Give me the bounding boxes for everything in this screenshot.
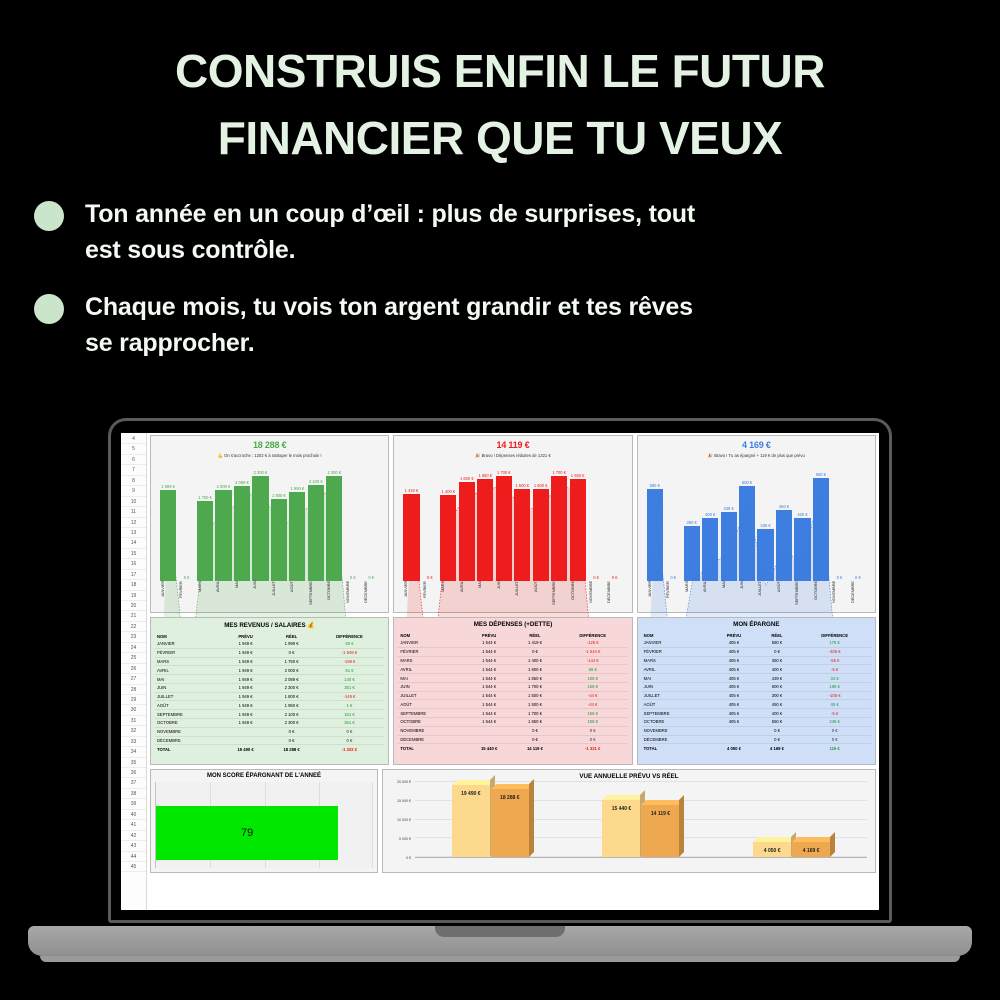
chart-area-epargne: 580 €0 €350 €400 €439 €600 €330 €450 €40… [643, 467, 870, 607]
table-cell[interactable]: 405 € [712, 674, 756, 683]
table-row[interactable]: MARS405 €350 €-55 € [642, 656, 871, 665]
column-header[interactable]: DIFFÉRENCE [558, 631, 628, 639]
chart-panel-revenus[interactable]: 18 288 €💪 On s'accroche : 1202 € à rattr… [150, 435, 389, 613]
column-header[interactable]: DIFFÉRENCE [798, 631, 871, 639]
table-cell[interactable]: 0 € [512, 647, 558, 656]
row-header[interactable]: 30 [121, 705, 146, 715]
table-total-cell: -1 321 € [558, 744, 628, 752]
bar-value-label: 18 288 € [491, 795, 529, 801]
table-cell[interactable]: 1 949 € [223, 640, 269, 648]
chart-panel-epargne[interactable]: 4 169 €🎉 Bravo ! Tu as épargné + 119 € d… [637, 435, 876, 613]
table-cell[interactable]: JUILLET [398, 691, 466, 700]
table-cell[interactable]: 0 € [512, 726, 558, 735]
table-row[interactable]: OCTOBRE1 544 €1 650 €106 € [398, 718, 627, 727]
table-cell[interactable]: 405 € [712, 647, 756, 656]
table-cell[interactable]: FÉVRIER [642, 647, 713, 656]
table-cell[interactable]: 1 949 € [223, 666, 269, 675]
table-total-row: TOTAL15 440 €14 119 €-1 321 € [398, 744, 627, 752]
table-cell[interactable]: JANVIER [155, 640, 223, 648]
score-title: MON SCORE ÉPARGNANT DE L'ANNEÉ [155, 773, 373, 779]
row-header[interactable]: 41 [121, 820, 146, 830]
column-header[interactable]: PRÉVU [466, 631, 512, 639]
x-axis-label: OCTOBRE [813, 581, 829, 607]
row-header[interactable]: 23 [121, 632, 146, 642]
table-cell[interactable]: -149 € [315, 692, 385, 701]
x-axis-label: SEPTEMBRE [794, 581, 810, 607]
bar-réel: 18 288 € [491, 789, 529, 857]
chart-area-revenus: 1 999 €0 €1 750 €2 000 €2 089 €2 300 €1 … [156, 467, 383, 607]
bar-réel: 14 119 € [641, 805, 679, 857]
spreadsheet-row-gutter[interactable]: 4567891011121314151617181920212223242526… [121, 433, 147, 910]
table-cell[interactable]: 405 € [712, 691, 756, 700]
table-cell[interactable]: SEPTEMBRE [642, 709, 713, 718]
headline-line-1: CONSTRUIS ENFIN LE FUTUR [175, 45, 825, 97]
table-row[interactable]: JANVIER405 €580 €175 € [642, 639, 871, 647]
row-header[interactable]: 25 [121, 653, 146, 663]
table-row[interactable]: AVRIL1 949 €2 000 €51 € [155, 666, 384, 675]
row-header[interactable]: 21 [121, 611, 146, 621]
table-cell[interactable]: AVRIL [155, 666, 223, 675]
column-header[interactable]: NOM [642, 631, 713, 639]
table-cell[interactable]: -144 € [558, 656, 628, 665]
table-cell[interactable]: 245 € [798, 718, 871, 727]
table-cell[interactable]: 1 500 € [512, 691, 558, 700]
table-cell[interactable]: 1 999 € [269, 640, 315, 648]
table-panel-revenus[interactable]: MES REVENUS / SALAIRES 💰NOMPRÉVURÉELDIFF… [150, 617, 389, 765]
column-header[interactable]: RÉEL [269, 632, 315, 640]
row-header[interactable]: 7 [121, 465, 146, 475]
table-cell[interactable]: -405 € [798, 647, 871, 656]
row-header[interactable]: 31 [121, 716, 146, 726]
table-cell[interactable]: 2 089 € [269, 675, 315, 684]
table-cell[interactable]: DÉCEMBRE [642, 735, 713, 744]
benefits-list: Ton année en un coup d’œil : plus de sur… [34, 197, 1000, 361]
table-row[interactable]: JUILLET1 544 €1 500 €-44 € [398, 691, 627, 700]
table-cell[interactable]: 1 € [315, 701, 385, 710]
table-cell[interactable]: 56 € [558, 665, 628, 674]
table-row[interactable]: NOVEMBRE0 €0 € [155, 727, 384, 736]
table-cell[interactable]: MARS [398, 656, 466, 665]
spreadsheet-canvas[interactable]: 18 288 €💪 On s'accroche : 1202 € à rattr… [147, 433, 879, 910]
table-row[interactable]: AOÛT1 949 €1 950 €1 € [155, 701, 384, 710]
data-table-revenus[interactable]: NOMPRÉVURÉELDIFFÉRENCEJANVIER1 949 €1 99… [155, 632, 384, 753]
table-cell[interactable]: JANVIER [398, 639, 466, 647]
table-row[interactable]: SEPTEMBRE405 €400 €-5 € [642, 709, 871, 718]
laptop-lid: 4567891011121314151617181920212223242526… [108, 418, 892, 923]
table-cell[interactable] [466, 726, 512, 735]
table-row[interactable]: JANVIER1 949 €1 999 €50 € [155, 640, 384, 648]
table-cell[interactable]: FÉVRIER [155, 648, 223, 657]
table-cell[interactable]: -1 544 € [558, 647, 628, 656]
x-axis-label: SEPTEMBRE [551, 581, 567, 607]
table-cell[interactable]: FÉVRIER [398, 647, 466, 656]
chart-subtitle-depenses: 🎉 Bravo ! Dépenses réduites de 1321 € [399, 453, 626, 459]
table-cell[interactable]: DÉCEMBRE [155, 736, 223, 745]
table-cell[interactable]: 1 949 € [223, 692, 269, 701]
laptop-trackpad-notch [435, 926, 565, 937]
x-axis-label: JUILLET [514, 581, 530, 607]
table-row[interactable]: NOVEMBRE0 €0 € [398, 726, 627, 735]
table-cell[interactable]: 405 € [712, 700, 756, 709]
table-cell[interactable]: 0 € [558, 735, 628, 744]
bar-top [452, 780, 496, 785]
x-axis-label: MAI [721, 581, 737, 607]
table-cell[interactable]: 1 419 € [512, 639, 558, 647]
table-cell[interactable]: 1 544 € [466, 639, 512, 647]
row-header[interactable]: 32 [121, 726, 146, 736]
table-cell[interactable]: 34 € [798, 674, 871, 683]
table-cell[interactable]: 1 544 € [466, 665, 512, 674]
annual-comparison-panel[interactable]: VUE ANNUELLE PRÉVU VS RÉEL0 €5 000 €10 0… [382, 769, 876, 873]
table-row[interactable]: SEPTEMBRE1 949 €2 100 €151 € [155, 710, 384, 719]
table-cell[interactable]: 405 € [712, 656, 756, 665]
table-cell[interactable]: 400 € [756, 665, 799, 674]
row-header[interactable]: 28 [121, 685, 146, 695]
row-header[interactable]: 38 [121, 789, 146, 799]
bar-side [529, 779, 534, 857]
table-cell[interactable]: OCTOBRE [642, 718, 713, 727]
score-panel[interactable]: MON SCORE ÉPARGNANT DE L'ANNEÉ 79 [150, 769, 378, 873]
table-cell[interactable]: 1 544 € [466, 682, 512, 691]
table-cell[interactable]: 1 544 € [466, 700, 512, 709]
row-header[interactable]: 6 [121, 455, 146, 465]
table-cell[interactable]: 1 949 € [223, 683, 269, 692]
table-cell[interactable]: 600 € [756, 682, 799, 691]
table-row[interactable]: AOÛT405 €450 €45 € [642, 700, 871, 709]
table-row[interactable]: MARS1 949 €1 750 €-199 € [155, 657, 384, 666]
table-cell[interactable]: 1 400 € [512, 656, 558, 665]
table-total-cell: TOTAL [155, 745, 223, 753]
table-cell[interactable]: MARS [155, 657, 223, 666]
table-cell[interactable]: 0 € [269, 727, 315, 736]
chart-total-epargne: 4 169 € [643, 440, 870, 450]
x-axis-label: DÉCEMBRE [850, 581, 866, 607]
table-row[interactable]: AOÛT1 544 €1 500 €-44 € [398, 700, 627, 709]
y-axis: 0 €5 000 €10 000 €15 000 €20 000 € [387, 782, 413, 858]
table-cell[interactable]: 1 650 € [512, 718, 558, 727]
table-cell[interactable]: OCTOBRE [155, 719, 223, 728]
table-total-cell: TOTAL [398, 744, 466, 752]
table-cell[interactable]: 1 949 € [223, 648, 269, 657]
score-bar: 79 [156, 806, 338, 860]
table-cell[interactable]: 1 950 € [269, 701, 315, 710]
table-row[interactable]: JUILLET1 949 €1 800 €-149 € [155, 692, 384, 701]
table-cell[interactable]: 1 750 € [269, 657, 315, 666]
row-header[interactable]: 15 [121, 549, 146, 559]
table-cell[interactable]: MAI [642, 674, 713, 683]
table-cell[interactable]: MAI [398, 674, 466, 683]
table-cell[interactable]: 351 € [315, 719, 385, 728]
table-cell[interactable] [466, 735, 512, 744]
table-cell[interactable]: AOÛT [398, 700, 466, 709]
table-row[interactable]: DÉCEMBRE0 €0 € [398, 735, 627, 744]
table-cell[interactable]: DÉCEMBRE [398, 735, 466, 744]
row-header[interactable]: 8 [121, 476, 146, 486]
row-header[interactable]: 44 [121, 852, 146, 862]
table-cell[interactable]: 151 € [315, 710, 385, 719]
table-cell[interactable]: AOÛT [642, 700, 713, 709]
column-header[interactable]: DIFFÉRENCE [315, 632, 385, 640]
table-cell[interactable]: 1 544 € [466, 647, 512, 656]
table-row[interactable]: OCTOBRE1 949 €2 300 €351 € [155, 719, 384, 728]
table-cell[interactable]: JUIN [155, 683, 223, 692]
table-cell[interactable]: 50 € [315, 640, 385, 648]
table-cell[interactable]: AOÛT [155, 701, 223, 710]
table-cell[interactable]: -199 € [315, 657, 385, 666]
row-header[interactable]: 39 [121, 799, 146, 809]
data-table-depenses[interactable]: NOMPRÉVURÉELDIFFÉRENCEJANVIER1 544 €1 41… [398, 631, 627, 752]
y-axis-tick-label: 5 000 € [399, 837, 411, 841]
table-cell[interactable]: JUIN [398, 682, 466, 691]
column-header[interactable]: RÉEL [512, 631, 558, 639]
bar-prévu: 4 050 € [753, 842, 791, 857]
table-cell[interactable]: 0 € [756, 647, 799, 656]
table-cell[interactable]: 650 € [756, 718, 799, 727]
column-header[interactable]: PRÉVU [712, 631, 756, 639]
laptop-base [28, 926, 972, 956]
table-cell[interactable]: 0 € [798, 735, 871, 744]
table-row[interactable]: JUILLET405 €300 €-105 € [642, 691, 871, 700]
row-header[interactable]: 40 [121, 810, 146, 820]
chart-panel-depenses[interactable]: 14 119 €🎉 Bravo ! Dépenses réduites de 1… [393, 435, 632, 613]
table-cell[interactable]: 1 949 € [223, 710, 269, 719]
x-axis-label: MARS [684, 581, 700, 607]
table-cell[interactable]: 405 € [712, 682, 756, 691]
table-cell[interactable]: 405 € [712, 639, 756, 647]
table-cell[interactable]: SEPTEMBRE [398, 709, 466, 718]
table-cell[interactable]: -125 € [558, 639, 628, 647]
row-header[interactable]: 4 [121, 434, 146, 444]
table-cell[interactable]: NOVEMBRE [155, 727, 223, 736]
table-cell[interactable]: OCTOBRE [398, 718, 466, 727]
table-cell[interactable] [223, 727, 269, 736]
row-header[interactable]: 36 [121, 768, 146, 778]
table-cell[interactable]: 439 € [756, 674, 799, 683]
table-cell[interactable]: 1 949 € [223, 719, 269, 728]
table-cell[interactable]: -5 € [798, 665, 871, 674]
row-header[interactable]: 20 [121, 601, 146, 611]
table-cell[interactable]: 405 € [712, 665, 756, 674]
row-header[interactable]: 35 [121, 758, 146, 768]
table-cell[interactable]: 1 650 € [512, 674, 558, 683]
column-header[interactable]: NOM [155, 632, 223, 640]
row-header[interactable]: 18 [121, 580, 146, 590]
x-axis-label: NOVEMBRE [588, 581, 604, 607]
table-cell[interactable]: 1 544 € [466, 718, 512, 727]
table-cell[interactable]: 405 € [712, 718, 756, 727]
table-cell[interactable]: 0 € [558, 726, 628, 735]
bullet-dot-icon [34, 294, 64, 324]
table-cell[interactable]: -1 949 € [315, 648, 385, 657]
data-table-epargne[interactable]: NOMPRÉVURÉELDIFFÉRENCEJANVIER405 €580 €1… [642, 631, 871, 752]
bullet-text: Chaque mois, tu vois ton argent grandir … [85, 290, 725, 361]
table-cell[interactable]: 1 700 € [512, 709, 558, 718]
table-cell[interactable]: 156 € [558, 709, 628, 718]
x-axis-label: OCTOBRE [326, 581, 342, 607]
y-axis-tick-label: 15 000 € [397, 799, 411, 803]
table-cell[interactable]: 400 € [756, 709, 799, 718]
table-cell[interactable]: 0 € [315, 727, 385, 736]
column-header[interactable]: PRÉVU [223, 632, 269, 640]
x-axis-label: AOÛT [533, 581, 549, 607]
table-cell[interactable]: 351 € [315, 683, 385, 692]
table-cell[interactable]: 0 € [315, 736, 385, 745]
table-row[interactable]: MAI1 949 €2 089 €140 € [155, 675, 384, 684]
table-cell[interactable] [712, 735, 756, 744]
table-cell[interactable]: 106 € [558, 718, 628, 727]
table-cell[interactable]: NOVEMBRE [642, 726, 713, 735]
bar-side [679, 795, 684, 857]
chart-total-revenus: 18 288 € [156, 440, 383, 450]
annual-chart-area: 0 €5 000 €10 000 €15 000 €20 000 €19 490… [387, 782, 871, 870]
table-cell[interactable]: 1 544 € [466, 674, 512, 683]
table-cell[interactable]: 140 € [315, 675, 385, 684]
x-axis-label: SEPTEMBRE [308, 581, 324, 607]
table-cell[interactable]: 2 300 € [269, 719, 315, 728]
table-cell[interactable]: 106 € [558, 674, 628, 683]
table-panel-depenses[interactable]: MES DÉPENSES (+DETTE)NOMPRÉVURÉELDIFFÉRE… [393, 617, 632, 765]
table-cell[interactable]: 195 € [798, 682, 871, 691]
row-header[interactable]: 27 [121, 674, 146, 684]
table-cell[interactable]: 300 € [756, 691, 799, 700]
table-cell[interactable]: 0 € [269, 648, 315, 657]
table-cell[interactable]: 350 € [756, 656, 799, 665]
table-row[interactable]: OCTOBRE405 €650 €245 € [642, 718, 871, 727]
table-row[interactable]: JUIN405 €600 €195 € [642, 682, 871, 691]
bar-value-label: 14 119 € [641, 811, 679, 817]
table-cell[interactable]: NOVEMBRE [398, 726, 466, 735]
table-cell[interactable]: 0 € [756, 726, 799, 735]
row-header[interactable]: 29 [121, 695, 146, 705]
table-row[interactable]: SEPTEMBRE1 544 €1 700 €156 € [398, 709, 627, 718]
table-row[interactable]: MAI1 544 €1 650 €106 € [398, 674, 627, 683]
table-cell[interactable]: 156 € [558, 682, 628, 691]
row-header[interactable]: 5 [121, 444, 146, 454]
table-row[interactable]: FÉVRIER1 949 €0 €-1 949 € [155, 648, 384, 657]
chart-subtitle-revenus: 💪 On s'accroche : 1202 € à rattraper le … [156, 453, 383, 459]
table-cell[interactable]: 1 500 € [512, 700, 558, 709]
table-cell[interactable]: 175 € [798, 639, 871, 647]
table-cell[interactable]: 0 € [512, 735, 558, 744]
table-row[interactable]: JUIN1 949 €2 300 €351 € [155, 683, 384, 692]
table-row[interactable]: DÉCEMBRE0 €0 € [642, 735, 871, 744]
table-cell[interactable]: 1 544 € [466, 709, 512, 718]
table-row[interactable]: MAI405 €439 €34 € [642, 674, 871, 683]
row-header[interactable]: 11 [121, 507, 146, 517]
x-axis-label: MAI [234, 581, 250, 607]
x-axis-label: JANVIER [403, 581, 419, 607]
table-total-row: TOTAL4 050 €4 169 €119 € [642, 744, 871, 752]
table-cell[interactable]: 1 800 € [269, 692, 315, 701]
table-cell[interactable]: JUILLET [642, 691, 713, 700]
table-cell[interactable]: AVRIL [398, 665, 466, 674]
table-cell[interactable]: 2 100 € [269, 710, 315, 719]
row-header[interactable]: 10 [121, 497, 146, 507]
table-cell[interactable]: MAI [155, 675, 223, 684]
table-row[interactable]: NOVEMBRE0 €0 € [642, 726, 871, 735]
row-header[interactable]: 45 [121, 862, 146, 872]
x-axis-label: AOÛT [289, 581, 305, 607]
table-row[interactable]: FÉVRIER1 544 €0 €-1 544 € [398, 647, 627, 656]
table-cell[interactable]: 1 700 € [512, 682, 558, 691]
table-cell[interactable]: 405 € [712, 709, 756, 718]
table-cell[interactable]: -105 € [798, 691, 871, 700]
row-header[interactable]: 37 [121, 778, 146, 788]
table-cell[interactable] [223, 736, 269, 745]
table-cell[interactable]: 1 949 € [223, 701, 269, 710]
table-cell[interactable]: JUIN [642, 682, 713, 691]
table-cell[interactable]: AVRIL [642, 665, 713, 674]
table-cell[interactable]: -5 € [798, 709, 871, 718]
table-row[interactable]: AVRIL405 €400 €-5 € [642, 665, 871, 674]
row-header[interactable]: 33 [121, 737, 146, 747]
table-cell[interactable]: -44 € [558, 700, 628, 709]
row-header[interactable]: 43 [121, 841, 146, 851]
table-panel-epargne[interactable]: MON ÉPARGNENOMPRÉVURÉELDIFFÉRENCEJANVIER… [637, 617, 876, 765]
table-cell[interactable] [712, 726, 756, 735]
table-cell[interactable]: -55 € [798, 656, 871, 665]
table-row[interactable]: FÉVRIER405 €0 €-405 € [642, 647, 871, 656]
table-cell[interactable]: 580 € [756, 639, 799, 647]
table-cell[interactable]: 1 544 € [466, 656, 512, 665]
table-cell[interactable]: 45 € [798, 700, 871, 709]
table-header-row: NOMPRÉVURÉELDIFFÉRENCE [398, 631, 627, 639]
row-header[interactable]: 22 [121, 622, 146, 632]
score-chart-area: 79 [155, 782, 373, 868]
table-total-cell: 4 050 € [712, 744, 756, 752]
table-row[interactable]: DÉCEMBRE0 €0 € [155, 736, 384, 745]
table-cell[interactable]: 2 000 € [269, 666, 315, 675]
x-axis-label: DÉCEMBRE [363, 581, 379, 607]
table-cell[interactable]: 51 € [315, 666, 385, 675]
table-cell[interactable]: 0 € [269, 736, 315, 745]
row-header[interactable]: 13 [121, 528, 146, 538]
table-cell[interactable]: 0 € [798, 726, 871, 735]
row-header[interactable]: 16 [121, 559, 146, 569]
x-axis-label: JUIN [252, 581, 268, 607]
table-cell[interactable]: 450 € [756, 700, 799, 709]
table-cell[interactable]: 2 300 € [269, 683, 315, 692]
column-header[interactable]: RÉEL [756, 631, 799, 639]
row-header[interactable]: 9 [121, 486, 146, 496]
column-header[interactable]: NOM [398, 631, 466, 639]
table-title-epargne: MON ÉPARGNE [642, 621, 871, 628]
table-cell[interactable]: JANVIER [642, 639, 713, 647]
table-cell[interactable]: JUILLET [155, 692, 223, 701]
row-header[interactable]: 34 [121, 747, 146, 757]
table-cell[interactable]: MARS [642, 656, 713, 665]
table-row[interactable]: JANVIER1 544 €1 419 €-125 € [398, 639, 627, 647]
table-title-depenses: MES DÉPENSES (+DETTE) [398, 621, 627, 628]
table-cell[interactable]: SEPTEMBRE [155, 710, 223, 719]
row-header[interactable]: 42 [121, 831, 146, 841]
row-header[interactable]: 26 [121, 664, 146, 674]
table-cell[interactable]: -44 € [558, 691, 628, 700]
row-header[interactable]: 14 [121, 538, 146, 548]
table-row[interactable]: JUIN1 544 €1 700 €156 € [398, 682, 627, 691]
table-cell[interactable]: 1 949 € [223, 675, 269, 684]
table-cell[interactable]: 0 € [756, 735, 799, 744]
row-header[interactable]: 24 [121, 643, 146, 653]
row-header[interactable]: 17 [121, 570, 146, 580]
table-row[interactable]: MARS1 544 €1 400 €-144 € [398, 656, 627, 665]
table-cell[interactable]: 1 600 € [512, 665, 558, 674]
row-header[interactable]: 19 [121, 591, 146, 601]
row-header[interactable]: 12 [121, 518, 146, 528]
table-row[interactable]: AVRIL1 544 €1 600 €56 € [398, 665, 627, 674]
table-cell[interactable]: 1 949 € [223, 657, 269, 666]
table-cell[interactable]: 1 544 € [466, 691, 512, 700]
